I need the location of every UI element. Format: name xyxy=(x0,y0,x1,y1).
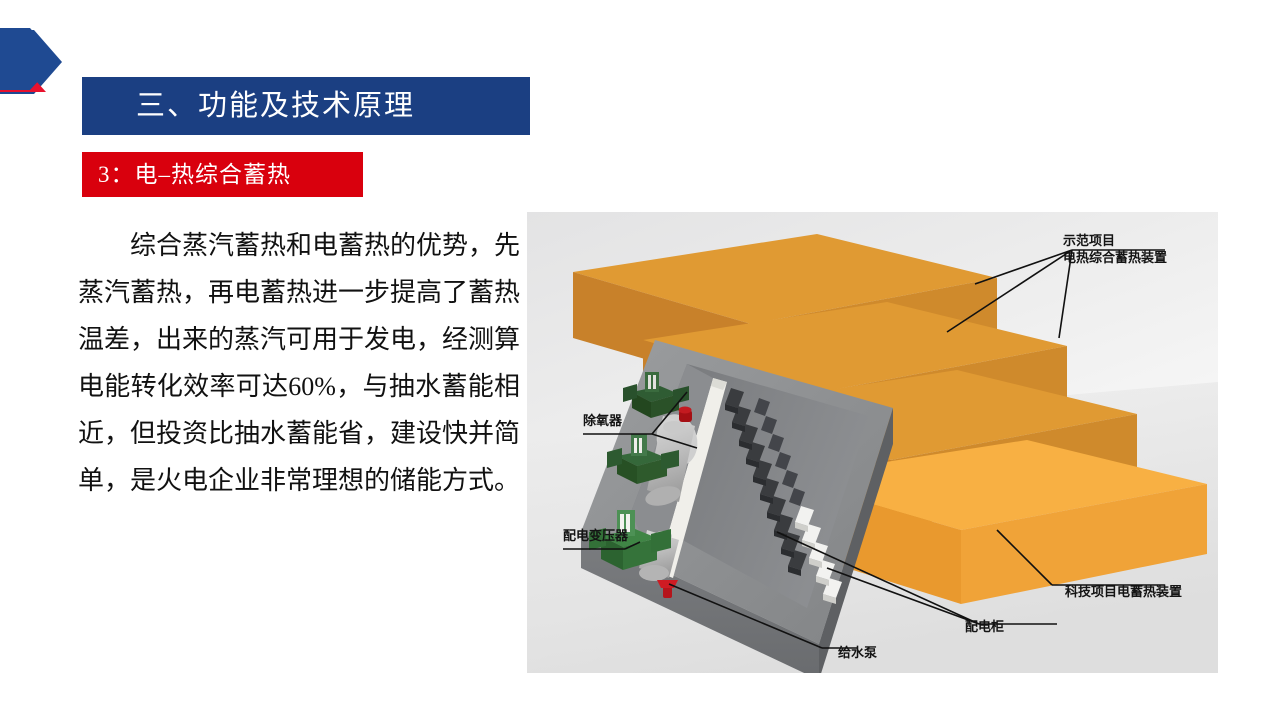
body-paragraph: 综合蒸汽蓄热和电蓄热的优势，先蒸汽蓄热，再电蓄热进一步提高了蓄热温差，出来的蒸汽… xyxy=(78,222,520,504)
thermal-storage-diagram xyxy=(527,212,1218,673)
label-demonstration-project-line1: 示范项目 xyxy=(1063,232,1167,249)
label-demonstration-project: 示范项目 电热综合蓄热装置 xyxy=(1063,232,1167,266)
label-distribution-cabinet: 配电柜 xyxy=(965,618,1004,635)
slide: 三、功能及技术原理 3：电–热综合蓄热 综合蒸汽蓄热和电蓄热的优势，先蒸汽蓄热，… xyxy=(0,0,1280,720)
sub-banner: 3：电–热综合蓄热 xyxy=(82,152,363,197)
label-tech-project: 科技项目电蓄热装置 xyxy=(1065,583,1182,600)
section-banner-title: 三、功能及技术原理 xyxy=(136,92,415,121)
sub-banner-title: 3：电–热综合蓄热 xyxy=(98,163,291,186)
corner-logo-icon xyxy=(0,28,64,106)
section-banner: 三、功能及技术原理 xyxy=(82,77,530,135)
label-deaerator: 除氧器 xyxy=(583,412,622,429)
label-feedwater-pump: 给水泵 xyxy=(838,644,877,661)
label-demonstration-project-line2: 电热综合蓄热装置 xyxy=(1063,249,1167,266)
label-distribution-transformer: 配电变压器 xyxy=(563,527,628,544)
